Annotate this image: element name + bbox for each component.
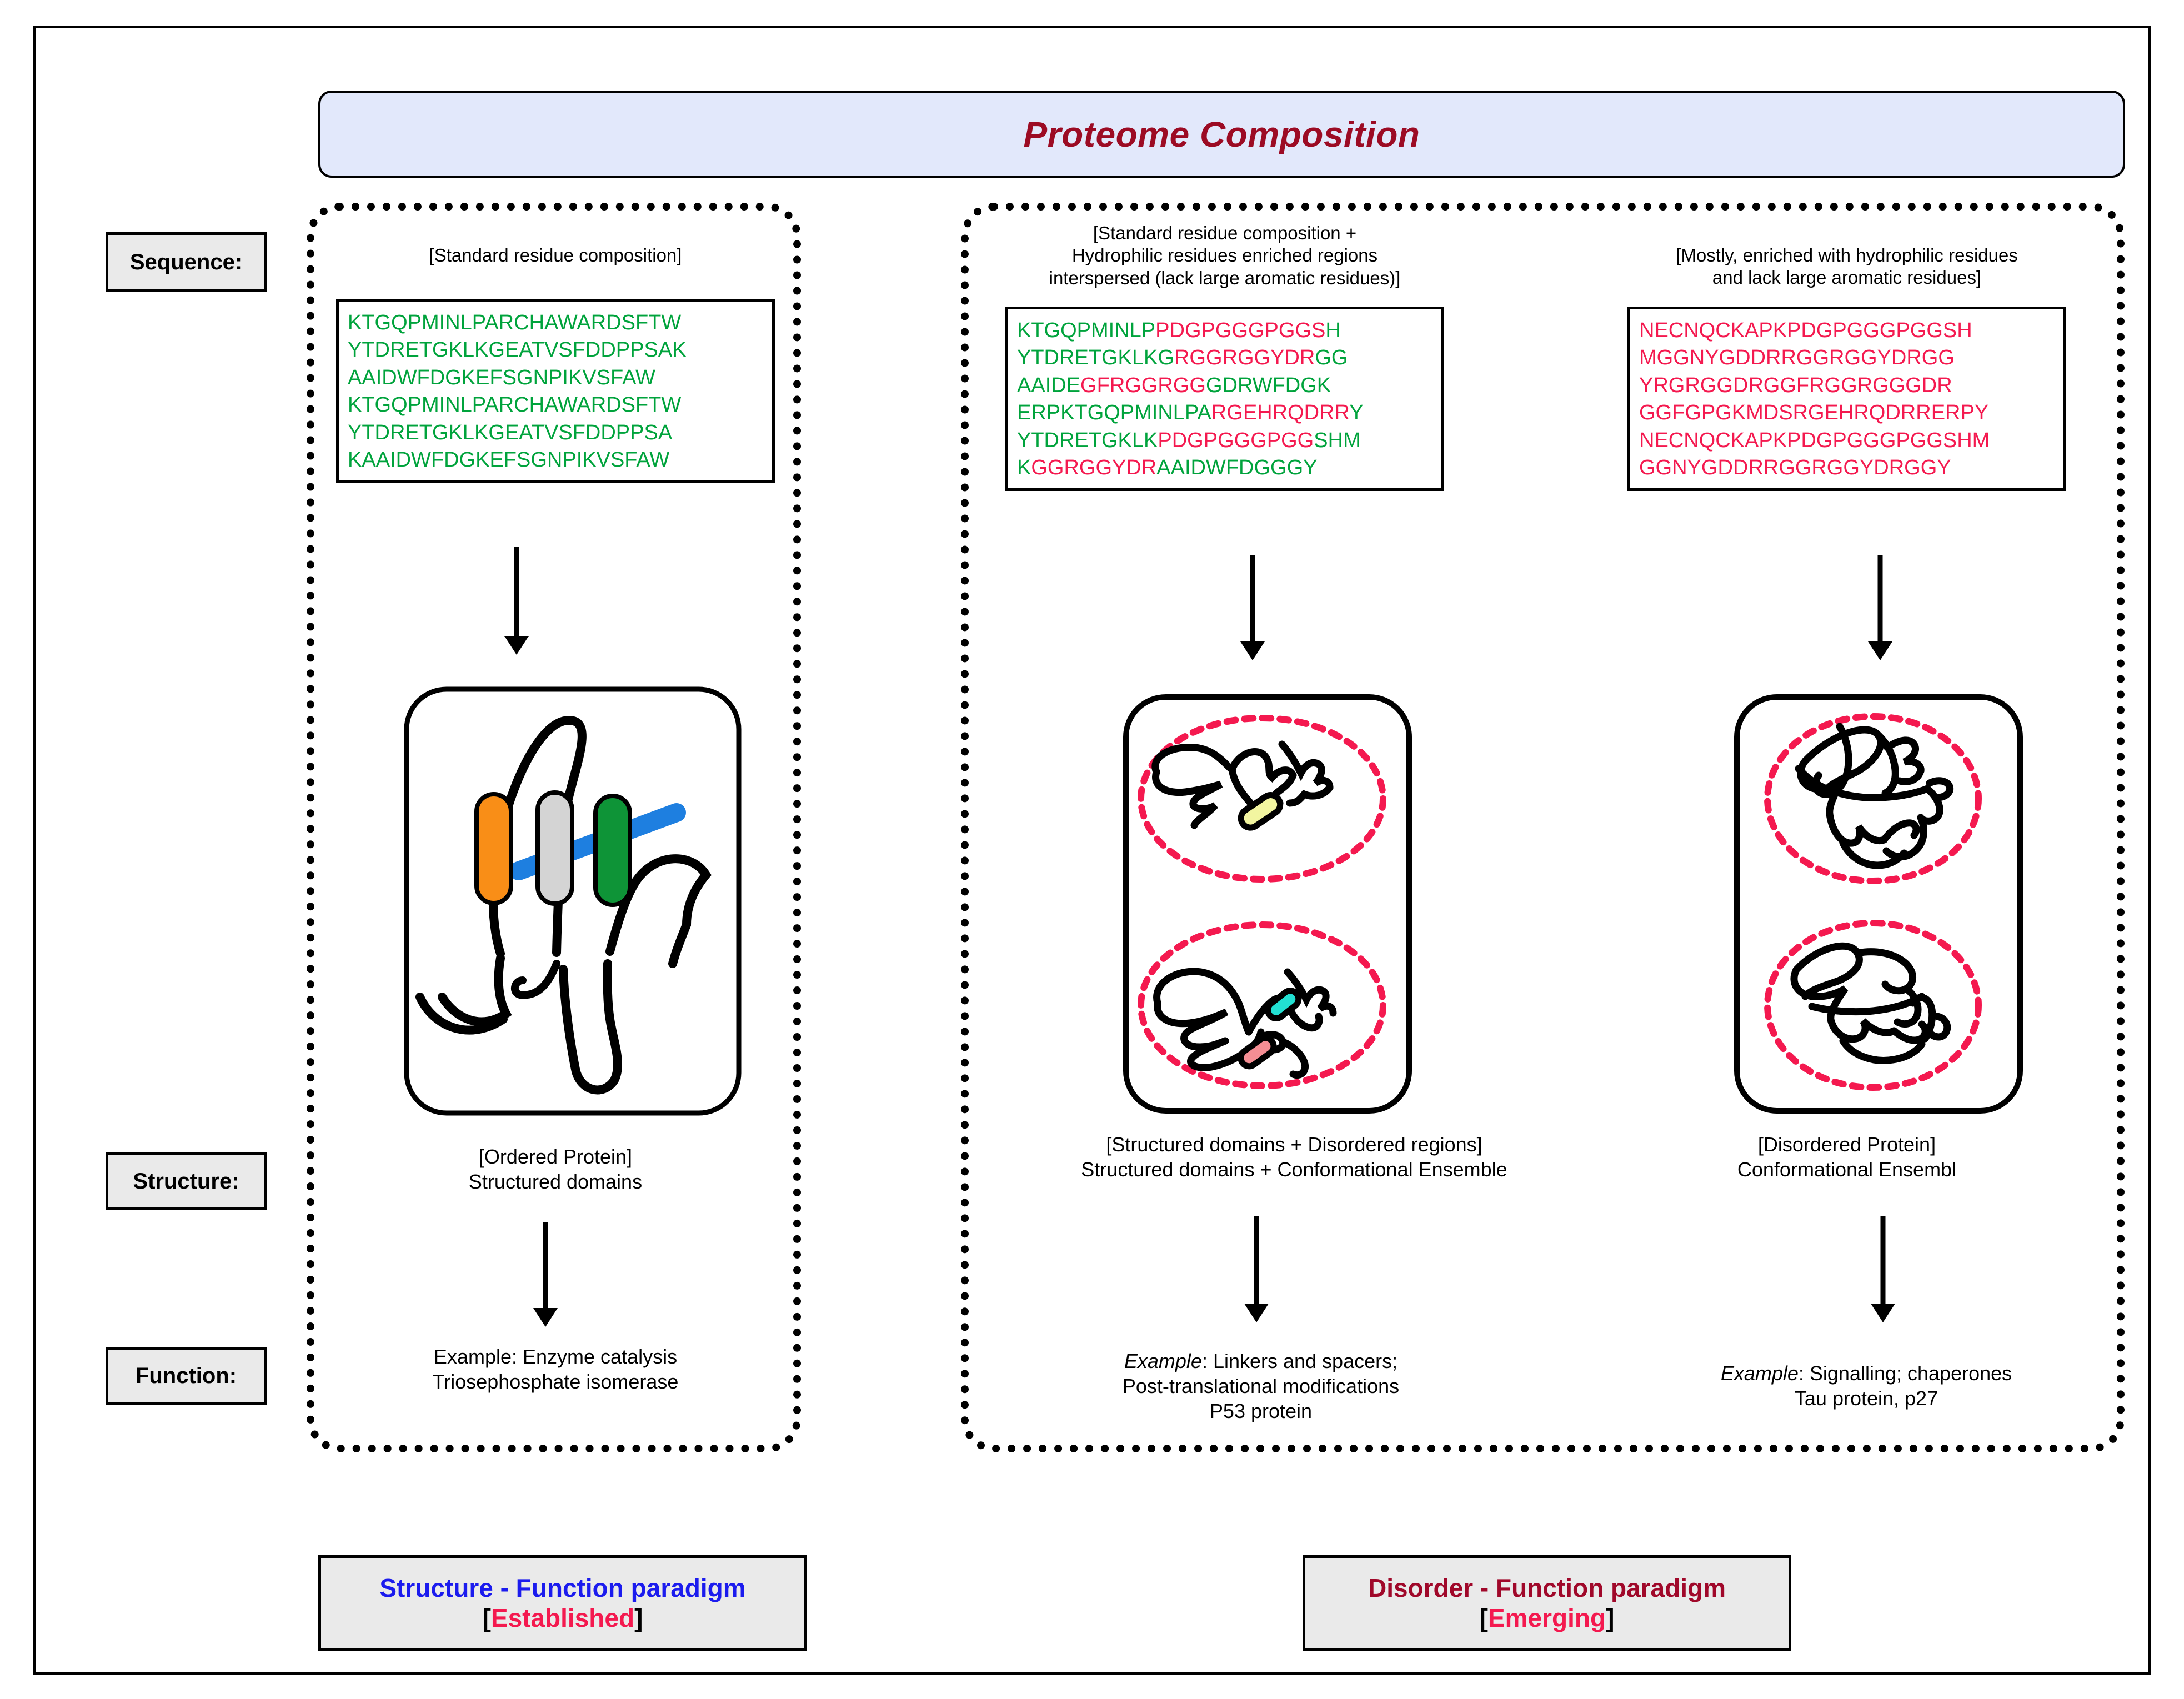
sequence-line: YTDRETGKLKGEATVSFDDPPSAK [348, 337, 763, 364]
sequence-line: GGNYGDDRRGGRGGYDRGGY [1639, 454, 2055, 482]
residue-segment: MGGNYGDDRRGGRGGYDRGG [1639, 346, 1955, 369]
partially-disordered-protein-icon [1123, 694, 1412, 1114]
row-label-sequence: Sequence: [106, 232, 267, 292]
sequence-line: KAAIDWFDGKEFSGNPIKVSFAW [348, 447, 763, 474]
structure-line-1: [Ordered Protein] [336, 1144, 775, 1169]
function-line-2: Triosephosphate isomerase [336, 1369, 775, 1394]
structure-line-1: [Disordered Protein] [1627, 1132, 2066, 1157]
residue-segment: KTGQPMINLPARCHAWARDSFTW [348, 311, 681, 334]
function-description-disordered: Example: Signalling; chaperones Tau prot… [1627, 1361, 2105, 1411]
page-title: Proteome Composition [1023, 114, 1420, 155]
folded-protein-icon [403, 686, 742, 1116]
sequence-line: NECNQCKAPKPDGPGGGPGGSHM [1639, 427, 2055, 454]
function-line-1-rest: : Linkers and spacers; [1202, 1350, 1397, 1372]
residue-segment: KAAIDWFDGKEFSGNPIKVSFAW [348, 448, 669, 472]
diagram-canvas: Proteome Composition Sequence: Structure… [0, 0, 2184, 1699]
residue-segment: NECNQCKAPKPDGPGGGPGGSHM [1639, 429, 1990, 452]
sequence-caption-line: and lack large aromatic residues] [1616, 267, 2077, 289]
example-label-hybrid: Example [1124, 1350, 1202, 1372]
sequence-box-ordered: KTGQPMINLPARCHAWARDSFTWYTDRETGKLKGEATVSF… [336, 299, 775, 483]
residue-segment: YTDRETGKLKGEATVSFDDPPSAK [348, 338, 687, 362]
row-label-sequence-text: Sequence: [130, 250, 242, 275]
residue-segment: YRGRGGDRGGFRGGRGGGDR [1639, 374, 1952, 397]
sequence-caption-ordered: [Standard residue composition] [333, 244, 778, 267]
bracket-open: [ [1480, 1603, 1488, 1632]
residue-segment: YTDRETGKLKGEATVSFDDPPSA [348, 421, 672, 444]
residue-segment: YTDRETGKLK [1017, 429, 1158, 452]
function-line-1: Example: Linkers and spacers; [1000, 1349, 1522, 1374]
sequence-caption-line: [Standard residue composition + [994, 222, 1455, 244]
residue-segment: RGGRGGYDR [1174, 346, 1315, 369]
sequence-line: GGFGPGKMDSRGEHRQDRRERPY [1639, 399, 2055, 427]
residue-segment: H [1325, 319, 1340, 342]
paradigm-title: Disorder - Function paradigm [1368, 1573, 1726, 1603]
paradigm-disorder-function: Disorder - Function paradigm [Emerging] [1303, 1555, 1791, 1651]
status-badge: Emerging [1488, 1603, 1606, 1632]
row-label-function-text: Function: [136, 1364, 237, 1389]
function-line-1-rest: : Signalling; chaperones [1799, 1362, 2012, 1385]
residue-segment: GGFGPGKMDSRGEHRQDRRERPY [1639, 401, 1988, 424]
title-banner: Proteome Composition [318, 91, 2125, 178]
structure-description-ordered: [Ordered Protein] Structured domains [336, 1144, 775, 1194]
residue-segment: GGNYGDDRRGGRGGYDRGGY [1639, 456, 1951, 479]
structure-description-disordered: [Disordered Protein] Conformational Ense… [1627, 1132, 2066, 1182]
residue-segment: AAIDWFDGKEFSGNPIKVSFAW [348, 366, 655, 389]
sequence-caption-disordered: [Mostly, enriched with hydrophilic resid… [1616, 244, 2077, 289]
sequence-line: YTDRETGKLKGRGGRGGYDRGG [1017, 344, 1432, 372]
residue-segment: PDGPGGGPGG [1158, 429, 1314, 452]
paradigm-status: [Established] [483, 1603, 643, 1633]
bracket-close: ] [634, 1603, 643, 1632]
sequence-box-disordered: NECNQCKAPKPDGPGGGPGGSHMGGNYGDDRRGGRGGYDR… [1627, 307, 2066, 491]
residue-segment: KTGQPMINLP [1017, 319, 1155, 342]
sequence-line: KTGQPMINLPARCHAWARDSFTW [348, 309, 763, 337]
sequence-line: KGGRGGYDRAAIDWFDGGGY [1017, 454, 1432, 482]
residue-segment: NECNQCKAPKPDGPGGGPGGSH [1639, 319, 1972, 342]
residue-segment: KTGQPMINLPARCHAWARDSFTW [348, 393, 681, 417]
residue-segment: GDRWFDGK [1206, 374, 1331, 397]
bracket-close: ] [1606, 1603, 1614, 1632]
function-description-ordered: Example: Enzyme catalysis Triosephosphat… [336, 1344, 775, 1394]
sequence-line: YTDRETGKLKPDGPGGGPGGSHM [1017, 427, 1432, 454]
sequence-caption-line: Hydrophilic residues enriched regions [994, 244, 1455, 267]
residue-segment: YTDRETGKLKG [1017, 346, 1174, 369]
status-badge: Established [491, 1603, 634, 1632]
function-line-1: Example: Enzyme catalysis [336, 1344, 775, 1369]
sequence-line: YRGRGGDRGGFRGGRGGGDR [1639, 372, 2055, 399]
paradigm-structure-function: Structure - Function paradigm [Establish… [318, 1555, 807, 1651]
residue-segment: SHM [1314, 429, 1360, 452]
residue-segment: AAIDWFDGGGY [1156, 456, 1317, 479]
residue-segment: ERPKTGQPMINLPA [1017, 401, 1211, 424]
function-line-1: Example: Signalling; chaperones [1627, 1361, 2105, 1386]
row-label-function: Function: [106, 1347, 267, 1405]
function-line-2: Post-translational modifications [1000, 1374, 1522, 1399]
structure-line-2: Structured domains + Conformational Ense… [989, 1157, 1600, 1182]
sequence-line: NECNQCKAPKPDGPGGGPGGSH [1639, 317, 2055, 344]
residue-segment: PDGPGGGPGGS [1155, 319, 1325, 342]
residue-segment: GG [1315, 346, 1348, 369]
example-label-disordered: Example [1721, 1362, 1799, 1385]
function-line-2: Tau protein, p27 [1627, 1386, 2105, 1411]
row-label-structure-text: Structure: [133, 1169, 239, 1194]
residue-segment: AAIDE [1017, 374, 1080, 397]
sequence-line: AAIDEGFRGGRGGGDRWFDGK [1017, 372, 1432, 399]
bracket-open: [ [483, 1603, 491, 1632]
structure-line-2: Conformational Ensembl [1627, 1157, 2066, 1182]
sequence-line: MGGNYGDDRRGGRGGYDRGG [1639, 344, 2055, 372]
sequence-caption-line: [Mostly, enriched with hydrophilic resid… [1616, 244, 2077, 267]
residue-segment: RGEHRQDRR [1211, 401, 1349, 424]
sequence-line: YTDRETGKLKGEATVSFDDPPSA [348, 419, 763, 447]
residue-segment: GFRGGRGG [1080, 374, 1206, 397]
disordered-protein-icon [1734, 694, 2023, 1114]
sequence-caption-line: interspersed (lack large aromatic residu… [994, 267, 1455, 289]
sequence-line: KTGQPMINLPPDGPGGGPGGSH [1017, 317, 1432, 344]
sequence-caption-hybrid: [Standard residue composition +Hydrophil… [994, 222, 1455, 289]
function-description-hybrid: Example: Linkers and spacers; Post-trans… [1000, 1349, 1522, 1424]
structure-line-1: [Structured domains + Disordered regions… [989, 1132, 1600, 1157]
paradigm-title: Structure - Function paradigm [379, 1573, 745, 1603]
structure-description-hybrid: [Structured domains + Disordered regions… [989, 1132, 1600, 1182]
residue-segment: Y [1349, 401, 1363, 424]
sequence-line: ERPKTGQPMINLPARGEHRQDRRY [1017, 399, 1432, 427]
sequence-line: AAIDWFDGKEFSGNPIKVSFAW [348, 364, 763, 392]
sequence-line: KTGQPMINLPARCHAWARDSFTW [348, 392, 763, 419]
paradigm-status: [Emerging] [1480, 1603, 1615, 1633]
sequence-box-hybrid: KTGQPMINLPPDGPGGGPGGSHYTDRETGKLKGRGGRGGY… [1005, 307, 1444, 491]
function-line-3: P53 protein [1000, 1399, 1522, 1424]
residue-segment: GGRGGYDR [1031, 456, 1156, 479]
row-label-structure: Structure: [106, 1152, 267, 1210]
structure-line-2: Structured domains [336, 1169, 775, 1194]
residue-segment: K [1017, 456, 1031, 479]
